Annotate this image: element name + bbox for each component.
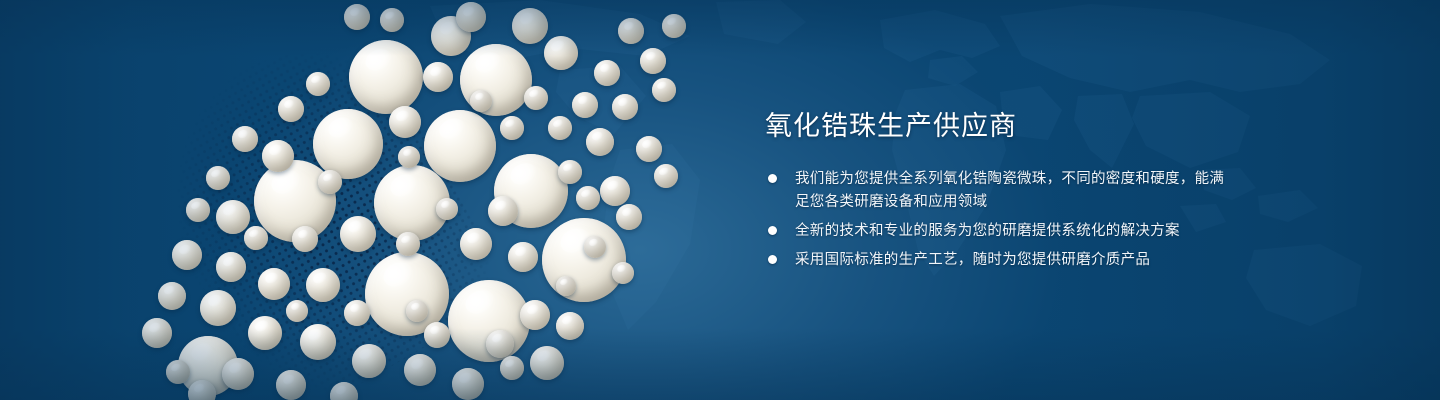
bullet-text: 采用国际标准的生产工艺，随时为您提供研磨介质产品 [795, 249, 1235, 272]
bullet-text: 我们能为您提供全系列氧化锆陶瓷微珠，不同的密度和硬度，能满足您各类研磨设备和应用… [795, 168, 1235, 214]
list-item: 我们能为您提供全系列氧化锆陶瓷微珠，不同的密度和硬度，能满足您各类研磨设备和应用… [765, 168, 1235, 214]
banner-bullet-list: 我们能为您提供全系列氧化锆陶瓷微珠，不同的密度和硬度，能满足您各类研磨设备和应用… [765, 168, 1235, 278]
bullet-dot-icon [768, 255, 777, 264]
bullet-text: 全新的技术和专业的服务为您的研磨提供系统化的解决方案 [795, 220, 1235, 243]
banner-copy-block: 氧化锆珠生产供应商 我们能为您提供全系列氧化锆陶瓷微珠，不同的密度和硬度，能满足… [765, 0, 1325, 400]
list-item: 采用国际标准的生产工艺，随时为您提供研磨介质产品 [765, 249, 1235, 272]
list-item: 全新的技术和专业的服务为您的研磨提供系统化的解决方案 [765, 220, 1235, 243]
bullet-dot-icon [768, 174, 777, 183]
banner-headline: 氧化锆珠生产供应商 [765, 110, 1017, 142]
bullet-dot-icon [768, 226, 777, 235]
hero-banner: 氧化锆珠生产供应商 我们能为您提供全系列氧化锆陶瓷微珠，不同的密度和硬度，能满足… [0, 0, 1440, 400]
